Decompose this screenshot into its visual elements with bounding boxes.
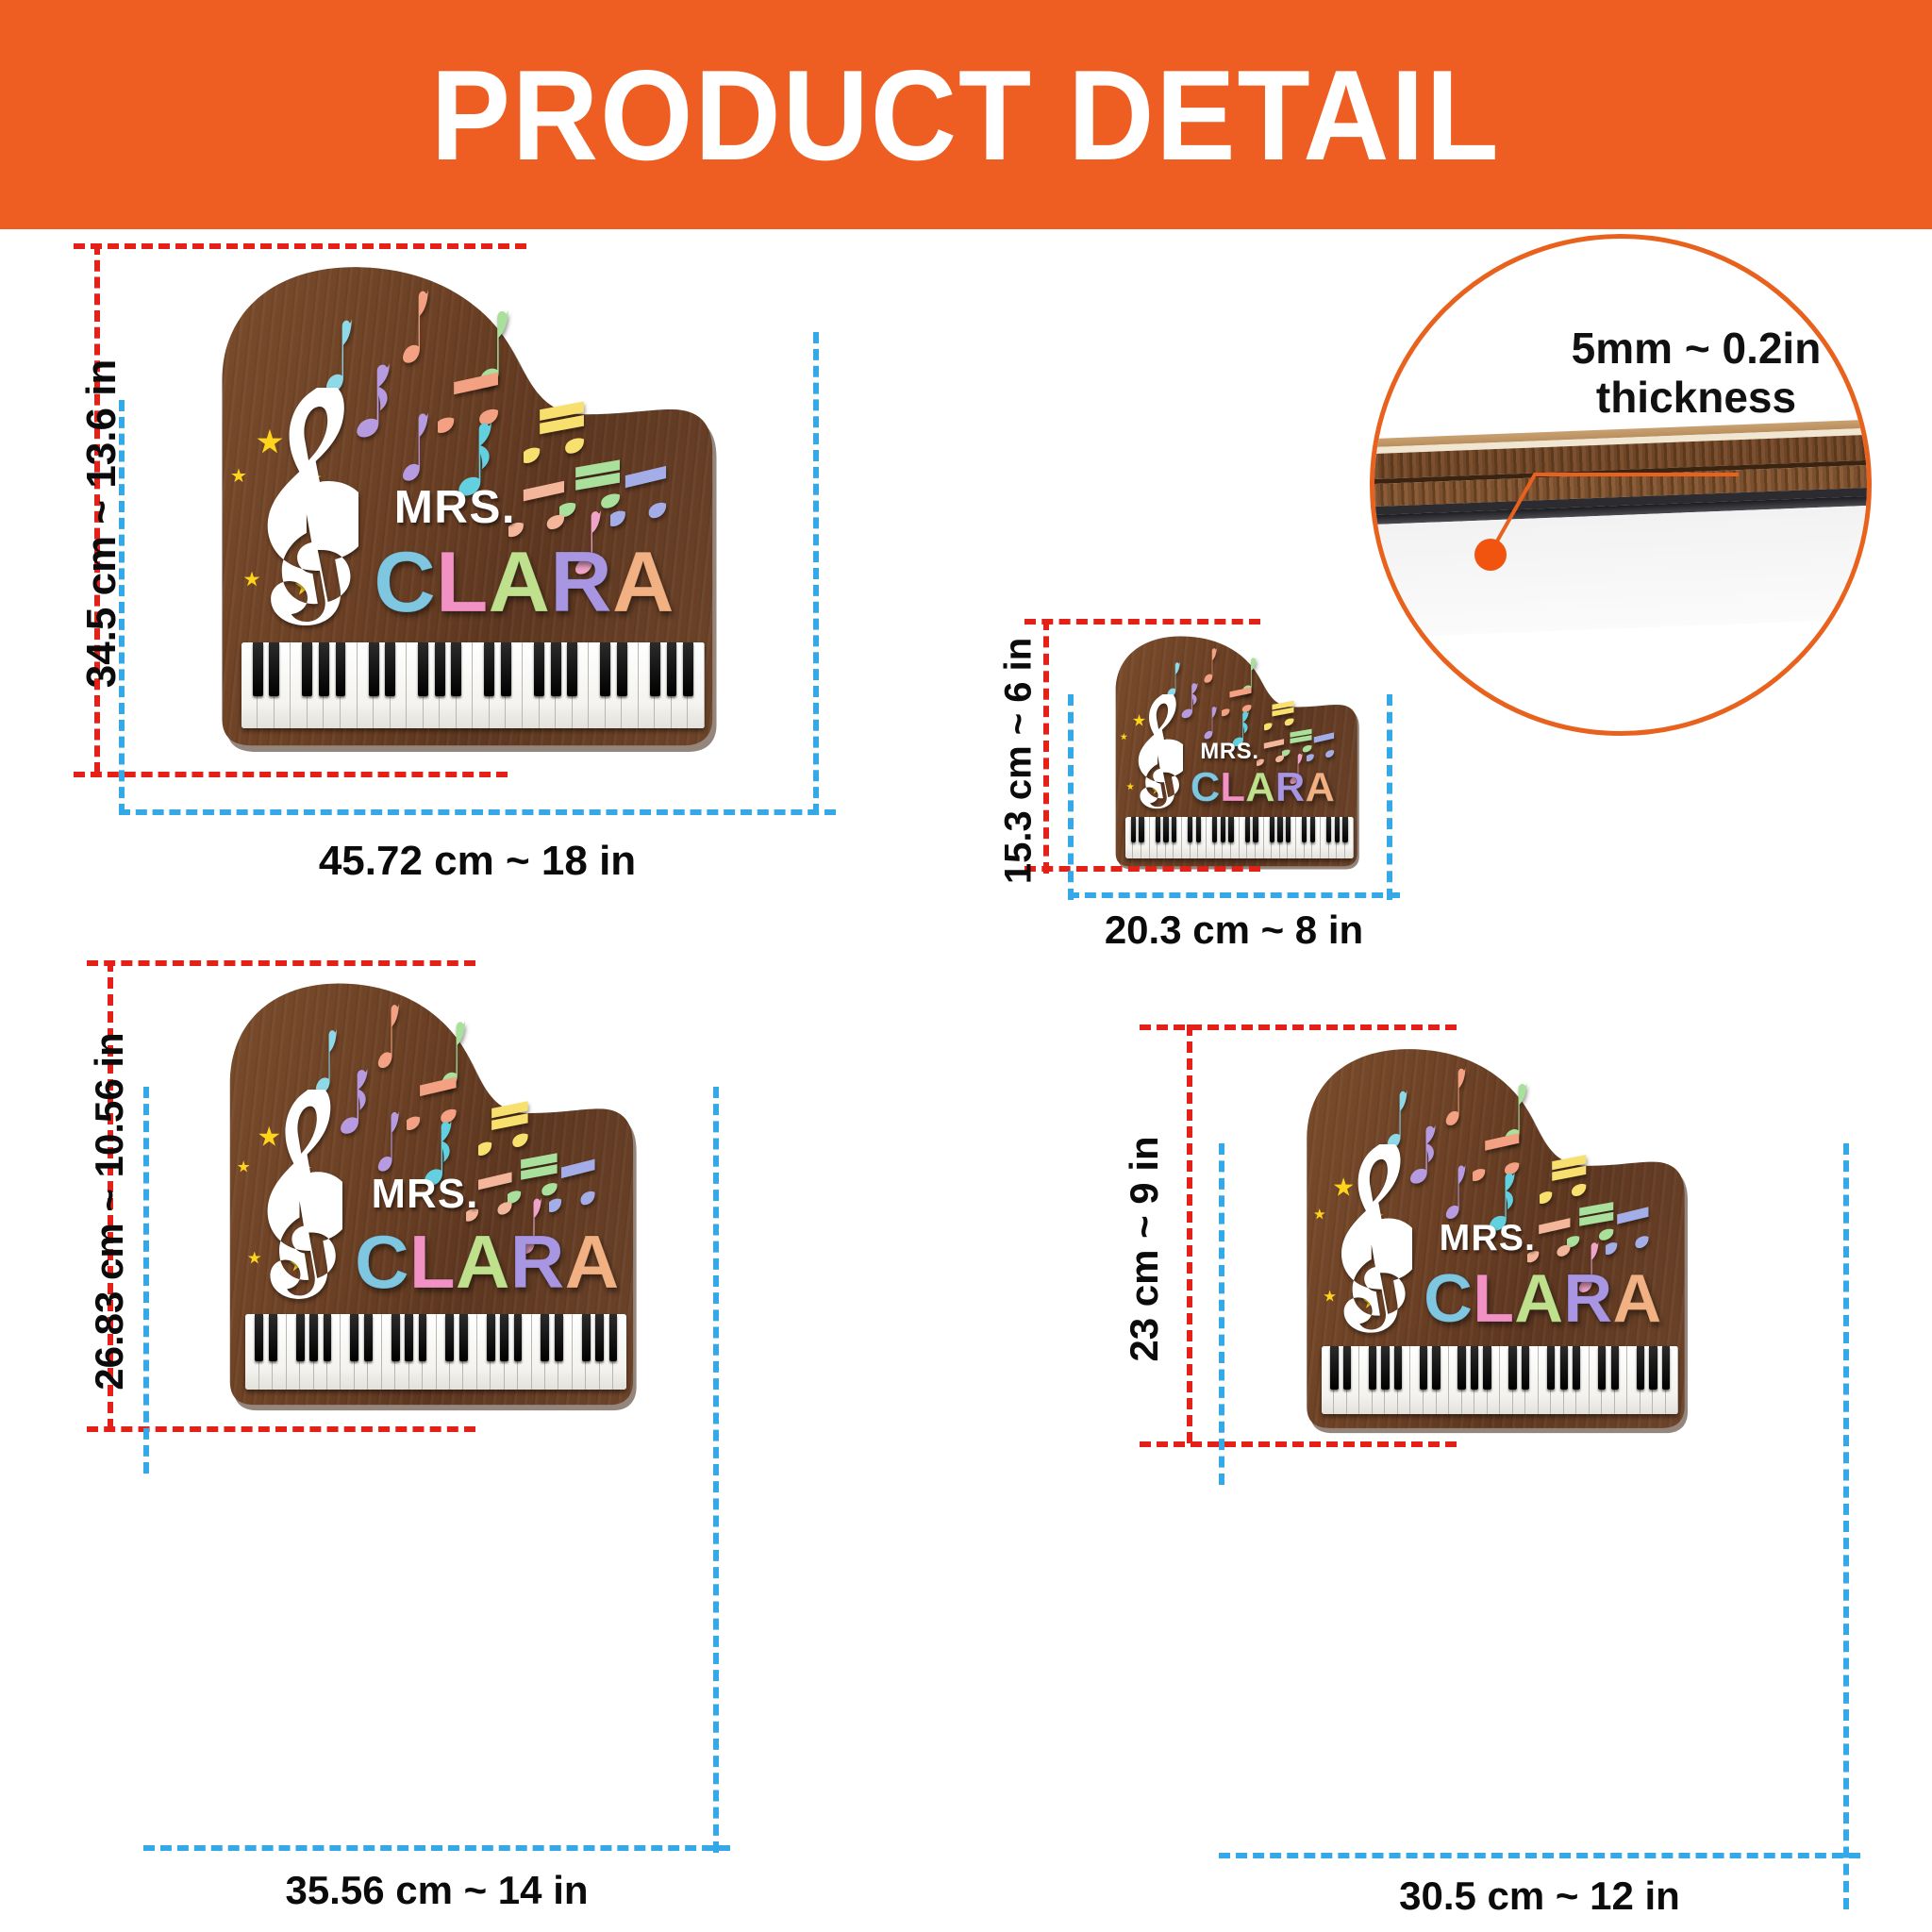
name-letter: R: [1275, 767, 1306, 808]
piano-black-key: [1196, 817, 1201, 843]
music-note-icon: [377, 1108, 407, 1174]
name-letter: L: [1473, 1265, 1514, 1333]
name-letter: A: [612, 540, 675, 625]
name-letter: L: [409, 1224, 456, 1299]
name-letter: A: [456, 1224, 510, 1299]
piano-black-key: [1131, 817, 1136, 843]
piano-black-key: [1156, 817, 1160, 843]
piano-black-key: [1342, 817, 1347, 843]
name-letter: L: [436, 540, 489, 625]
piano-black-key: [1483, 1346, 1491, 1389]
piano-black-key: [1212, 817, 1217, 843]
piano-black-key: [364, 1314, 373, 1361]
music-note-icon: [340, 1066, 377, 1135]
piano-black-key: [1277, 817, 1282, 843]
name-letter: C: [1191, 767, 1221, 808]
height-guide-bottom-4: [1140, 1441, 1457, 1447]
name-letter: A: [564, 1224, 619, 1299]
piano-black-key: [541, 1314, 549, 1361]
height-label-2: 15.3 cm ~ 6 in: [998, 606, 1041, 917]
personalized-name-text: CLARA: [1191, 767, 1335, 808]
piano-black-key: [324, 1314, 332, 1361]
piano-black-key: [484, 642, 494, 696]
piano-black-key: [319, 642, 329, 696]
piano-black-key: [595, 1314, 604, 1361]
piano-black-key: [534, 642, 544, 696]
piano-black-key: [1221, 817, 1225, 843]
thickness-callout: 5mm ~ 0.2in thickness: [1370, 234, 1872, 736]
width-guide-bottom-2: [1068, 892, 1400, 898]
product-image-18in[interactable]: MRS.CLARA: [213, 262, 723, 753]
piano-black-key: [1560, 1346, 1568, 1389]
piano-black-key: [1547, 1346, 1555, 1389]
piano-black-key: [302, 642, 312, 696]
personalized-name-text: CLARA: [374, 540, 674, 625]
piano-black-key: [405, 1314, 413, 1361]
piano-black-key: [551, 642, 561, 696]
name-letter: C: [1424, 1265, 1473, 1333]
thickness-label: 5mm ~ 0.2in thickness: [1507, 325, 1885, 422]
music-note-icon: [1181, 681, 1204, 719]
piano-black-key: [1286, 817, 1291, 843]
piano-black-key: [487, 1314, 495, 1361]
width-guide-left-4: [1219, 1143, 1224, 1485]
piano-black-key: [600, 642, 610, 696]
name-prefix-text: MRS.: [394, 480, 516, 534]
piano-keyboard: [1125, 817, 1354, 858]
name-letter: A: [1514, 1265, 1563, 1333]
callout-circle-outline: [1370, 234, 1872, 736]
treble-clef-icon: [1333, 1144, 1411, 1339]
piano-black-key: [418, 642, 428, 696]
music-note-icon: [1307, 731, 1337, 764]
piano-black-key: [683, 642, 693, 696]
width-guide-left-1: [119, 400, 125, 815]
piano-black-key: [617, 642, 627, 696]
name-letter: R: [550, 540, 612, 625]
piano-black-key: [1139, 817, 1143, 843]
piano-black-key: [1432, 1346, 1440, 1389]
music-note-icon: [508, 478, 570, 542]
width-label-2: 20.3 cm ~ 8 in: [1057, 908, 1411, 953]
width-guide-bottom-3: [143, 1845, 730, 1851]
piano-black-key: [1637, 1346, 1644, 1389]
piano-black-key: [1326, 817, 1331, 843]
piano-black-key: [1330, 1346, 1338, 1389]
callout-leader-line: [1374, 239, 1872, 736]
piano-black-key: [253, 642, 263, 696]
name-letter: A: [1612, 1265, 1661, 1333]
name-letter: A: [1245, 767, 1275, 808]
piano-black-key: [1662, 1346, 1670, 1389]
height-guide-top-3: [87, 960, 475, 966]
piano-black-key: [1649, 1346, 1657, 1389]
piano-keyboard: [245, 1314, 626, 1390]
treble-clef-icon: [257, 388, 358, 633]
width-guide-right-4: [1843, 1143, 1849, 1909]
height-guide-left-4: [1187, 1024, 1192, 1443]
piano-black-key: [1270, 817, 1274, 843]
thickness-point-marker: [1474, 539, 1507, 571]
width-guide-left-2: [1068, 694, 1074, 900]
piano-black-key: [451, 642, 461, 696]
name-letter: R: [510, 1224, 565, 1299]
width-guide-bottom-4: [1219, 1853, 1860, 1858]
piano-black-key: [1335, 817, 1340, 843]
piano-black-key: [1302, 817, 1307, 843]
name-letter: C: [374, 540, 436, 625]
piano-black-key: [445, 1314, 454, 1361]
thickness-label-line1: 5mm ~ 0.2in: [1507, 325, 1885, 374]
music-note-icon: [1204, 705, 1222, 741]
name-prefix-text: MRS.: [372, 1172, 479, 1218]
music-note-icon: [1606, 1205, 1653, 1259]
width-guide-left-3: [143, 1087, 149, 1474]
piano-black-key: [1611, 1346, 1619, 1389]
treble-clef-icon: [258, 1090, 342, 1306]
piano-black-key: [350, 1314, 358, 1361]
width-label-3: 35.56 cm ~ 14 in: [143, 1868, 730, 1913]
piano-black-key: [1573, 1346, 1580, 1389]
piano-black-key: [336, 642, 346, 696]
height-label-3: 26.83 cm ~ 10.56 in: [87, 975, 132, 1447]
piano-black-key: [459, 1314, 468, 1361]
height-label-4: 23 cm ~ 9 in: [1122, 1069, 1167, 1429]
page-title: PRODUCT DETAIL: [431, 42, 1501, 189]
music-note-icon: [1204, 646, 1222, 684]
width-label-1: 45.72 cm ~ 18 in: [119, 838, 836, 885]
piano-black-key: [1245, 817, 1250, 843]
name-prefix-text: MRS.: [1200, 739, 1258, 765]
piano-black-key: [309, 1314, 318, 1361]
music-note-icon: [610, 463, 672, 532]
piano-keyboard: [1322, 1346, 1679, 1414]
name-prefix-text: MRS.: [1440, 1218, 1537, 1259]
name-letter: C: [355, 1224, 409, 1299]
music-note-icon: [402, 409, 438, 483]
thickness-label-line2: thickness: [1507, 374, 1885, 423]
piano-black-key: [419, 1314, 427, 1361]
piano-black-key: [1172, 817, 1176, 843]
name-letter: L: [1220, 767, 1245, 808]
name-letter: A: [1305, 767, 1335, 808]
piano-black-key: [296, 1314, 305, 1361]
piano-black-key: [1508, 1346, 1516, 1389]
personalized-name-text: CLARA: [1424, 1265, 1661, 1333]
piano-black-key: [500, 1314, 508, 1361]
product-image-12in[interactable]: MRS.CLARA: [1300, 1045, 1692, 1434]
height-guide-bottom-1: [74, 772, 508, 777]
product-image-14in[interactable]: MRS.CLARA: [223, 979, 641, 1411]
piano-black-key: [1522, 1346, 1529, 1389]
treble-clef-icon: [1133, 694, 1183, 812]
piano-black-key: [385, 642, 395, 696]
music-note-icon: [356, 360, 402, 439]
piano-black-key: [1394, 1346, 1402, 1389]
piano-black-key: [1381, 1346, 1389, 1389]
piano-black-key: [1420, 1346, 1427, 1389]
music-note-icon: [377, 1001, 407, 1070]
piano-black-key: [1457, 1346, 1465, 1389]
piano-black-key: [667, 642, 677, 696]
music-note-icon: [549, 1157, 599, 1217]
piano-black-key: [1471, 1346, 1478, 1389]
width-guide-right-1: [813, 332, 819, 815]
piano-black-key: [555, 1314, 563, 1361]
music-note-icon: [402, 287, 438, 365]
name-letter: A: [488, 540, 550, 625]
music-note-icon: [1445, 1162, 1473, 1221]
piano-black-key: [1310, 817, 1315, 843]
piano-black-key: [1228, 817, 1233, 843]
product-image-8in[interactable]: MRS.CLARA: [1111, 634, 1362, 870]
piano-black-key: [269, 642, 279, 696]
music-note-icon: [1445, 1065, 1473, 1127]
height-guide-top-2: [1024, 619, 1260, 625]
personalized-name-text: CLARA: [355, 1224, 619, 1299]
piano-black-key: [369, 642, 379, 696]
piano-black-key: [391, 1314, 400, 1361]
piano-black-key: [650, 642, 660, 696]
piano-keyboard: [241, 642, 705, 728]
name-letter: R: [1563, 1265, 1612, 1333]
piano-black-key: [1253, 817, 1257, 843]
piano-black-key: [1343, 1346, 1351, 1389]
piano-black-key: [582, 1314, 591, 1361]
piano-black-key: [567, 642, 577, 696]
piano-black-key: [501, 642, 511, 696]
piano-black-key: [435, 642, 445, 696]
music-note-icon: [1409, 1123, 1444, 1185]
piano-black-key: [1598, 1346, 1606, 1389]
piano-black-key: [514, 1314, 523, 1361]
width-guide-bottom-1: [119, 809, 836, 815]
header-banner: PRODUCT DETAIL: [0, 0, 1932, 229]
piano-black-key: [269, 1314, 277, 1361]
piano-black-key: [1188, 817, 1192, 843]
height-guide-top-1: [74, 243, 526, 249]
piano-black-key: [1163, 817, 1168, 843]
piano-black-key: [255, 1314, 263, 1361]
piano-black-key: [1369, 1346, 1376, 1389]
piano-black-key: [609, 1314, 618, 1361]
width-guide-right-3: [713, 1087, 719, 1853]
width-label-4: 30.5 cm ~ 12 in: [1219, 1874, 1860, 1919]
height-guide-left-2: [1043, 619, 1049, 874]
